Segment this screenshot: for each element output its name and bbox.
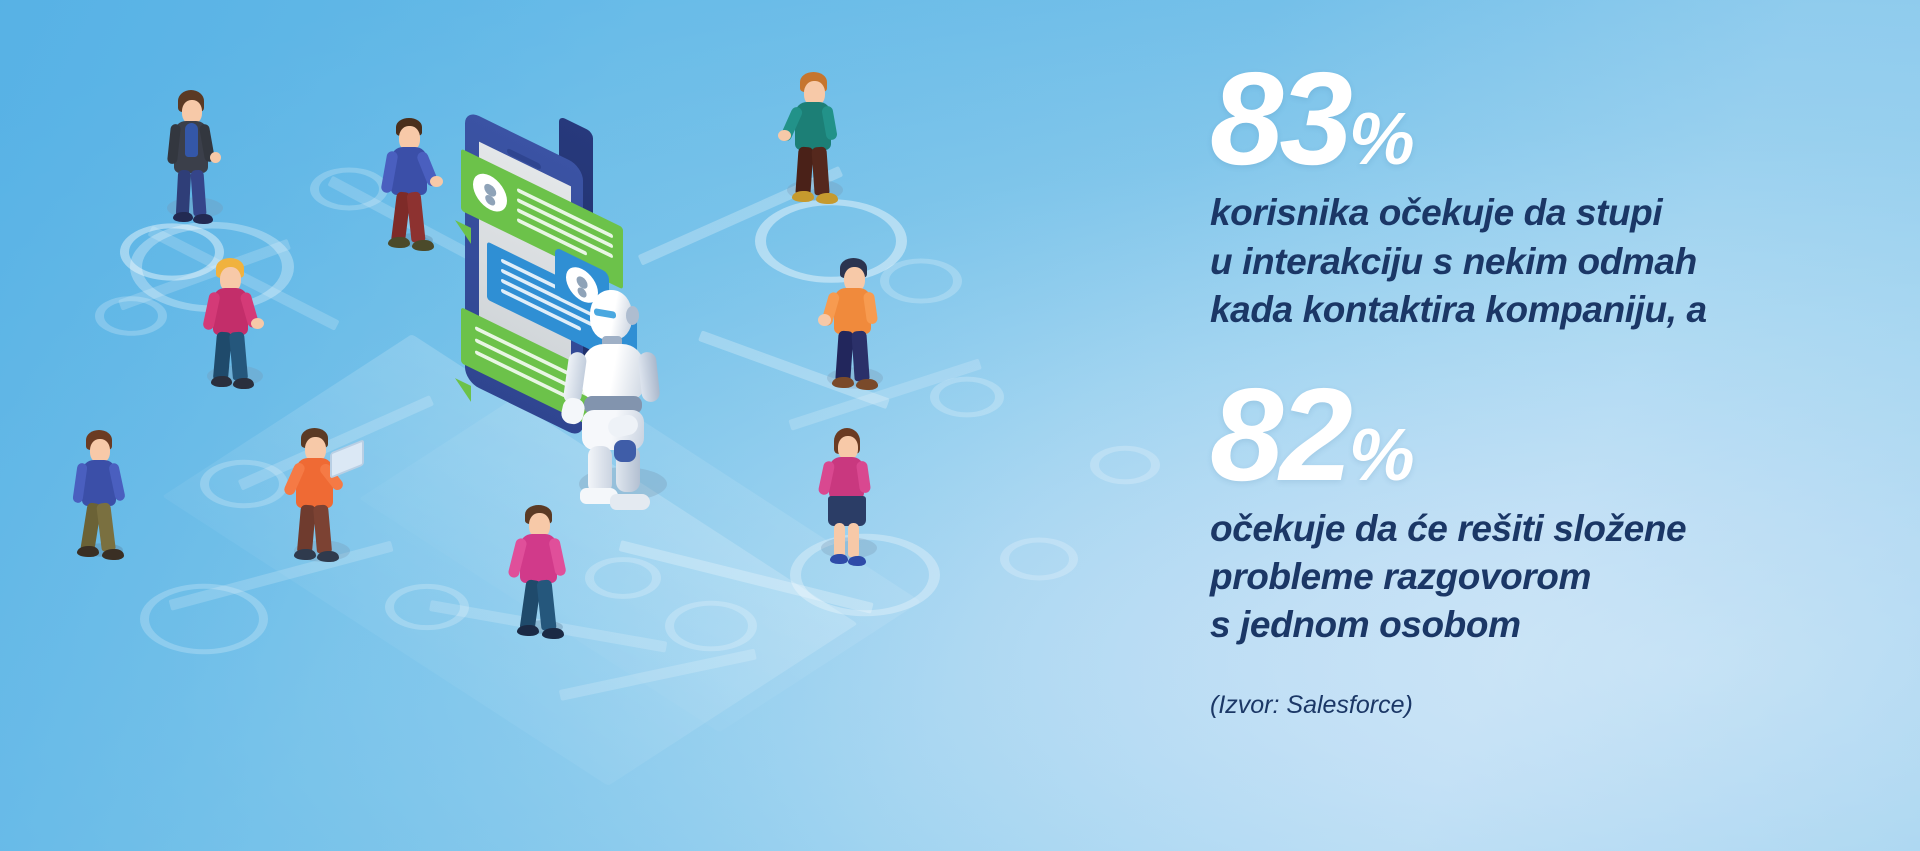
shoe-right: [102, 549, 124, 560]
leg-right: [848, 523, 859, 557]
stat-line: probleme razgovorom: [1210, 553, 1860, 601]
person-figure: [282, 428, 362, 573]
stat-number: 83: [1210, 45, 1349, 192]
stat-line: kada kontaktira kompaniju, a: [1210, 286, 1860, 334]
person-figure: [378, 118, 448, 260]
shoe-left: [830, 554, 848, 564]
shoe-right: [848, 556, 866, 566]
shoe-right: [542, 628, 564, 639]
stat-line: s jednom osobom: [1210, 601, 1860, 649]
network-node: [1000, 538, 1078, 581]
network-node: [140, 584, 268, 654]
robot-knee-right: [614, 440, 636, 462]
shoe-right: [816, 193, 838, 204]
network-node: [880, 258, 962, 303]
leg-right: [851, 331, 869, 382]
network-node: [310, 168, 388, 211]
skirt: [828, 496, 866, 526]
person-figure: [160, 90, 230, 230]
leg-right: [811, 147, 829, 196]
chat-bubble-tail: [455, 378, 471, 402]
leg-left: [176, 170, 191, 217]
shoe-right: [317, 551, 339, 562]
shoe-left: [211, 376, 232, 387]
shoe-left: [517, 625, 539, 636]
network-node: [95, 296, 167, 336]
network-node: [1090, 446, 1160, 485]
shoe-left: [294, 549, 316, 560]
stat-value-82: 82%: [1210, 374, 1860, 495]
percent-sign: %: [1349, 413, 1413, 496]
robot-foot-right: [610, 494, 650, 510]
robot-arm-left: [562, 351, 587, 405]
shoe-right: [412, 240, 434, 251]
stat-line: u interakciju s nekim odmah: [1210, 238, 1860, 286]
person-figure: [68, 430, 138, 570]
infographic-banner: 83% korisnika očekuje da stupi u interak…: [0, 0, 1920, 851]
network-node: [585, 557, 661, 599]
hand-left: [818, 314, 831, 326]
person-figure: [200, 258, 270, 398]
shoe-left: [173, 212, 193, 222]
robot-arm-right: [637, 351, 660, 403]
hand-right: [210, 152, 221, 163]
stat-description-82: očekuje da će rešiti složene probleme ra…: [1210, 505, 1860, 649]
percent-sign: %: [1349, 97, 1413, 180]
network-node: [930, 377, 1004, 418]
shoe-left: [792, 191, 814, 202]
stat-line: korisnika očekuje da stupi: [1210, 189, 1860, 237]
network-node: [385, 584, 469, 630]
network-node: [200, 460, 288, 508]
person-figure: [812, 428, 886, 570]
robot-illustration: [548, 290, 698, 520]
shirt: [185, 123, 198, 157]
leg-left: [834, 523, 845, 557]
stat-description-83: korisnika očekuje da stupi u interakciju…: [1210, 189, 1860, 333]
robot-leg-left: [588, 446, 612, 494]
stat-line: očekuje da će rešiti složene: [1210, 505, 1860, 553]
avatar-icon: [473, 167, 507, 218]
shoe-left: [77, 546, 99, 557]
shoe-left: [388, 237, 410, 248]
leg-right: [229, 331, 248, 380]
shoe-right: [856, 379, 878, 390]
tablet: [330, 439, 364, 479]
source-attribution: (Izvor: Salesforce): [1210, 691, 1860, 720]
leg-right: [313, 504, 332, 553]
robot-chest: [582, 344, 644, 400]
shoe-right: [193, 214, 213, 224]
network-node: [665, 601, 757, 652]
person-figure: [818, 258, 892, 400]
hand-right: [430, 176, 443, 187]
shoe-right: [233, 378, 254, 389]
shoe-left: [832, 377, 854, 388]
stat-value-83: 83%: [1210, 58, 1860, 179]
stat-number: 82: [1210, 361, 1349, 508]
leg-right: [190, 170, 206, 217]
robot-ear: [626, 306, 639, 325]
statistics-panel: 83% korisnika očekuje da stupi u interak…: [1210, 58, 1860, 720]
person-figure: [506, 505, 580, 647]
hand-right: [251, 318, 264, 329]
